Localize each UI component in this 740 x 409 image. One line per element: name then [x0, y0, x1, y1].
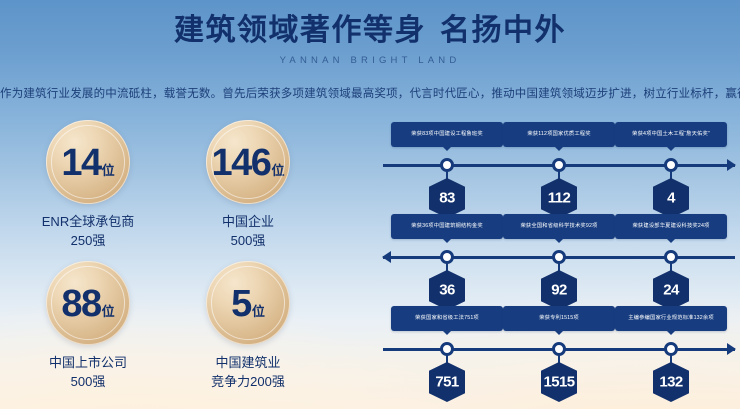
stat-coin-inner: 88 位	[61, 285, 114, 323]
stat-unit: 位	[271, 164, 284, 177]
timeline-hex-badge: 751	[429, 362, 465, 402]
timeline-row: 荣获国家和省级工法751项 751 荣获专利1515项 1515 主编参编国家行…	[383, 306, 735, 398]
stat-number: 5	[231, 285, 251, 323]
timeline-hex-value: 24	[663, 281, 679, 298]
timeline-label: 荣获83项中国建设工程鲁班奖	[391, 122, 503, 147]
header-block: 建筑领域著作等身名扬中外 YANNAN BRIGHT LAND	[0, 14, 740, 66]
timeline-hex-value: 4	[667, 189, 675, 206]
timeline-label: 荣获专利1515项	[503, 306, 615, 331]
timeline-hex-badge: 36	[429, 270, 465, 310]
stat-coin-inner: 14 位	[61, 144, 114, 182]
stat-coin: 5 位	[206, 261, 290, 345]
timeline-hex-value: 36	[439, 281, 455, 298]
stat-card: 5 位 中国建筑业 竞争力200强	[168, 261, 328, 402]
timeline-item[interactable]: 荣获国家和省级工法751项 751	[391, 306, 503, 331]
stat-number: 146	[212, 144, 271, 182]
intro-paragraph: 作为建筑行业发展的中流砥柱，载誉无数。曾先后荣获多项建筑领域最高奖项，代言时代匠…	[0, 85, 740, 101]
stat-number: 14	[61, 144, 100, 182]
timeline-item[interactable]: 荣获专利1515项 1515	[503, 306, 615, 331]
timeline-item[interactable]: 荣获4项中国土木工程“詹天佑奖” 4	[615, 122, 727, 147]
timeline-hex-value: 92	[551, 281, 567, 298]
timeline-label: 荣获全国和省级科学技术奖92项	[503, 214, 615, 239]
timeline-hex-value: 83	[439, 189, 455, 206]
timeline-item[interactable]: 荣获建设部华夏建设科技奖24项 24	[615, 214, 727, 239]
timeline-hex-badge: 132	[653, 362, 689, 402]
stat-caption: 中国建筑业 竞争力200强	[211, 354, 285, 392]
timeline-hex-value: 751	[435, 373, 458, 390]
timeline-row: 荣获83项中国建设工程鲁班奖 83 荣获112项国家优质工程奖 112 荣获4项…	[383, 122, 735, 214]
timeline-hex-value: 132	[659, 373, 682, 390]
timeline-hex-value: 112	[548, 189, 570, 206]
timeline-item[interactable]: 主编参编国家行业规范标准132余项 132	[615, 306, 727, 331]
stat-caption-line1: 中国上市公司	[49, 354, 127, 373]
stat-caption-line2: 500强	[222, 232, 274, 251]
stat-coin: 146 位	[206, 120, 290, 204]
awards-timeline: 荣获83项中国建设工程鲁班奖 83 荣获112项国家优质工程奖 112 荣获4项…	[383, 122, 735, 402]
stat-card: 146 位 中国企业 500强	[168, 120, 328, 261]
stat-caption: 中国上市公司 500强	[49, 354, 127, 392]
timeline-label: 荣获36项中国建筑钢结构金奖	[391, 214, 503, 239]
stat-coin: 14 位	[46, 120, 130, 204]
arrow-right-icon	[727, 343, 736, 355]
timeline-hex-badge: 83	[429, 178, 465, 218]
arrow-right-icon	[727, 159, 736, 171]
promo-banner: 建筑领域著作等身名扬中外 YANNAN BRIGHT LAND 作为建筑行业发展…	[0, 0, 740, 409]
stat-coin: 88 位	[46, 261, 130, 345]
timeline-hex-value: 1515	[544, 373, 575, 390]
timeline-hex-badge: 112	[541, 178, 577, 218]
page-title: 建筑领域著作等身名扬中外	[0, 14, 740, 47]
page-subtitle-en: YANNAN BRIGHT LAND	[0, 55, 740, 66]
stat-number: 88	[61, 285, 100, 323]
stat-unit: 位	[252, 305, 265, 318]
timeline-label: 主编参编国家行业规范标准132余项	[615, 306, 727, 331]
stat-caption-line2: 竞争力200强	[211, 373, 285, 392]
stat-caption-line1: ENR全球承包商	[42, 213, 134, 232]
stat-unit: 位	[102, 164, 115, 177]
timeline-hex-badge: 92	[541, 270, 577, 310]
stat-caption-line1: 中国企业	[222, 213, 274, 232]
stat-caption-line2: 250强	[42, 232, 134, 251]
timeline-hex-badge: 24	[653, 270, 689, 310]
timeline-item[interactable]: 荣获36项中国建筑钢结构金奖 36	[391, 214, 503, 239]
stat-unit: 位	[102, 305, 115, 318]
timeline-label: 荣获112项国家优质工程奖	[503, 122, 615, 147]
timeline-label: 荣获建设部华夏建设科技奖24项	[615, 214, 727, 239]
timeline-row: 荣获36项中国建筑钢结构金奖 36 荣获全国和省级科学技术奖92项 92 荣获建…	[383, 214, 735, 306]
timeline-item[interactable]: 荣获全国和省级科学技术奖92项 92	[503, 214, 615, 239]
page-title-part2: 名扬中外	[440, 14, 566, 47]
stat-caption-line1: 中国建筑业	[211, 354, 285, 373]
stat-caption-line2: 500强	[49, 373, 127, 392]
timeline-item[interactable]: 荣获112项国家优质工程奖 112	[503, 122, 615, 147]
timeline-hex-badge: 1515	[541, 362, 577, 402]
stat-card: 88 位 中国上市公司 500强	[8, 261, 168, 402]
timeline-hex-badge: 4	[653, 178, 689, 218]
timeline-label: 荣获国家和省级工法751项	[391, 306, 503, 331]
timeline-label: 荣获4项中国土木工程“詹天佑奖”	[615, 122, 727, 147]
stat-caption: ENR全球承包商 250强	[42, 213, 134, 251]
stat-caption: 中国企业 500强	[222, 213, 274, 251]
stat-coin-inner: 146 位	[212, 144, 285, 182]
stat-card: 14 位 ENR全球承包商 250强	[8, 120, 168, 261]
page-title-part1: 建筑领域著作等身	[174, 14, 426, 47]
stats-grid: 14 位 ENR全球承包商 250强 146 位 中国企业 500强	[8, 120, 328, 402]
arrow-left-icon	[382, 251, 391, 263]
stat-coin-inner: 5 位	[231, 285, 265, 323]
timeline-item[interactable]: 荣获83项中国建设工程鲁班奖 83	[391, 122, 503, 147]
